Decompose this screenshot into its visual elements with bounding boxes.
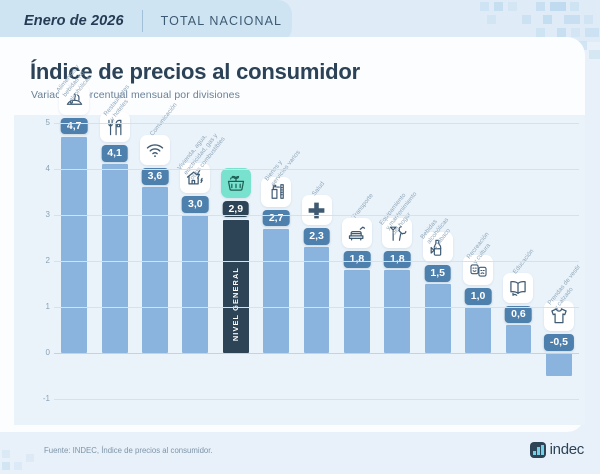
value-badge: 3,0 bbox=[182, 196, 209, 213]
y-axis-tick-label: 4 bbox=[32, 164, 50, 173]
bar bbox=[344, 270, 370, 353]
bar bbox=[425, 284, 451, 353]
bar bbox=[263, 229, 289, 353]
gridline bbox=[54, 169, 579, 170]
bar bbox=[182, 215, 208, 353]
value-badge: 2,3 bbox=[303, 228, 330, 245]
category-label: Prendas de vestir y calzado bbox=[546, 215, 600, 311]
value-badge: 1,8 bbox=[344, 251, 371, 268]
footer-pixel-decoration bbox=[0, 432, 48, 474]
gridline bbox=[54, 261, 579, 262]
value-badge: 0,6 bbox=[505, 306, 532, 323]
infographic-page: Enero de 2026 TOTAL NACIONAL Índice de p… bbox=[0, 0, 600, 474]
footer: Fuente: INDEC, Índice de precios al cons… bbox=[0, 432, 600, 474]
indec-logo: indec bbox=[530, 441, 584, 458]
bar bbox=[465, 307, 491, 353]
source-note: Fuente: INDEC, Índice de precios al cons… bbox=[44, 446, 213, 455]
value-badge: 3,6 bbox=[142, 168, 169, 185]
value-badge: 4,7 bbox=[61, 118, 88, 135]
gridline bbox=[54, 123, 579, 124]
transport-icon bbox=[342, 218, 372, 248]
chart-grid-area: 4,7Alimentos y bebidas no alcohólicas4,1… bbox=[54, 123, 579, 399]
value-badge: -0,5 bbox=[544, 334, 574, 351]
bar bbox=[546, 353, 572, 376]
header-pill: Enero de 2026 TOTAL NACIONAL bbox=[0, 0, 292, 42]
gridline bbox=[54, 307, 579, 308]
bar bbox=[304, 247, 330, 353]
bar-chart: 4,7Alimentos y bebidas no alcohólicas4,1… bbox=[14, 115, 585, 425]
y-axis-tick-label: 2 bbox=[32, 256, 50, 265]
gridline bbox=[54, 399, 579, 400]
header-scope: TOTAL NACIONAL bbox=[161, 14, 282, 28]
indec-logo-text: indec bbox=[550, 441, 584, 458]
gridline bbox=[54, 215, 579, 216]
wifi-icon bbox=[140, 135, 170, 165]
y-axis-tick-label: 3 bbox=[32, 210, 50, 219]
indec-logomark-icon bbox=[530, 442, 546, 458]
health-cross-icon bbox=[302, 195, 332, 225]
value-badge: 4,1 bbox=[101, 145, 128, 162]
y-axis-tick-label: 1 bbox=[32, 302, 50, 311]
gridline bbox=[54, 353, 579, 354]
bar bbox=[102, 164, 128, 353]
y-axis-tick-label: 5 bbox=[32, 118, 50, 127]
value-badge: 1,0 bbox=[465, 288, 492, 305]
value-badge: 1,8 bbox=[384, 251, 411, 268]
header-divider bbox=[142, 10, 143, 32]
y-axis-tick-label: 0 bbox=[32, 348, 50, 357]
y-axis-tick-label: -1 bbox=[32, 394, 50, 403]
bar bbox=[142, 187, 168, 353]
shopping-basket-icon bbox=[221, 168, 251, 198]
book-icon bbox=[503, 273, 533, 303]
value-badge: 2,7 bbox=[263, 210, 290, 227]
content-card: Índice de precios al consumidor Variació… bbox=[0, 37, 585, 432]
top-band: Enero de 2026 TOTAL NACIONAL bbox=[0, 0, 600, 42]
value-badge: 1,5 bbox=[424, 265, 451, 282]
bar bbox=[384, 270, 410, 353]
bar: NIVEL GENERAL bbox=[223, 220, 249, 353]
nivel-general-label: NIVEL GENERAL bbox=[231, 267, 241, 341]
bar bbox=[506, 325, 532, 353]
